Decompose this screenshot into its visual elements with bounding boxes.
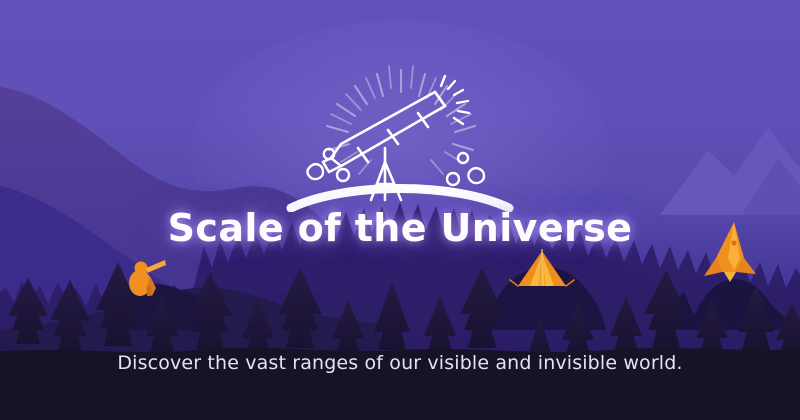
hill-rocky-right-spur bbox=[662, 292, 700, 330]
mountain-far-right bbox=[660, 128, 800, 215]
subtitle-block: Discover the vast ranges of our visible … bbox=[0, 352, 800, 374]
stargazer-figure bbox=[129, 260, 166, 296]
pebble-shapes bbox=[307, 149, 484, 185]
title-block: Scale of the Universe bbox=[0, 206, 800, 250]
pine-forest-front bbox=[8, 262, 800, 356]
page-subtitle: Discover the vast ranges of our visible … bbox=[117, 352, 682, 374]
hill-tent bbox=[486, 267, 606, 330]
page-title: Scale of the Universe bbox=[168, 206, 633, 250]
telescope-illustration bbox=[285, 62, 515, 212]
hero-banner: Scale of the Universe Discover the vast … bbox=[0, 0, 800, 420]
rock-outcrop-left bbox=[106, 283, 212, 330]
foreground-base bbox=[0, 372, 800, 420]
hill-rocky-right bbox=[690, 279, 800, 330]
tent-figure bbox=[510, 249, 574, 286]
